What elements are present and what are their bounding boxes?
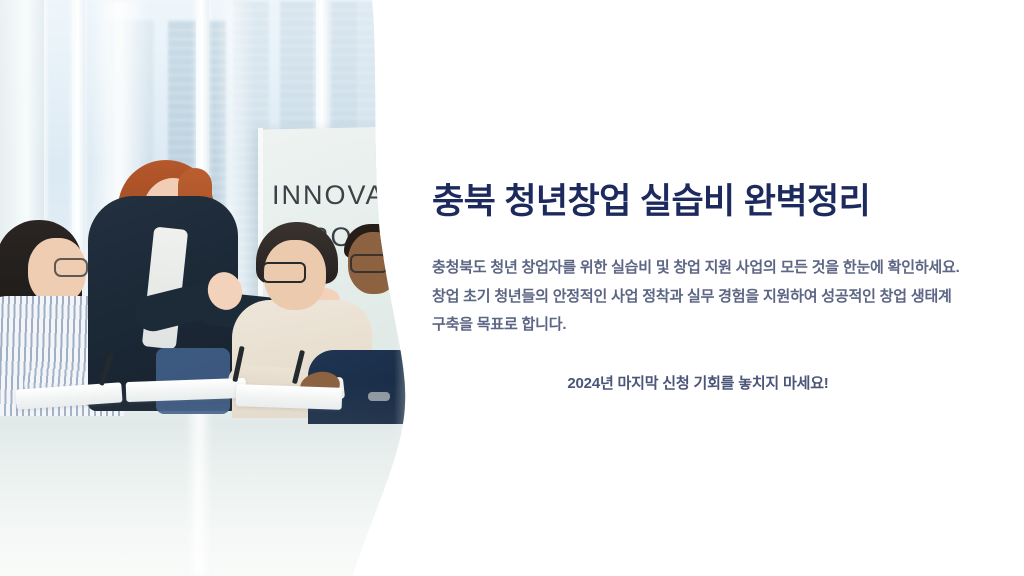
- text-content-column: 충북 청년창업 실습비 완벽정리 충청북도 청년 창업자를 위한 실습비 및 창…: [432, 0, 964, 576]
- office-meeting-photo: INNOVA GRO: [0, 0, 420, 576]
- hero-photo-panel: INNOVA GRO: [0, 0, 420, 576]
- notebook: [236, 384, 343, 410]
- notebook: [126, 378, 247, 402]
- table-light-streak: [186, 392, 212, 576]
- page-title: 충북 청년창업 실습비 완벽정리: [432, 180, 964, 224]
- cta-text: 2024년 마지막 신청 기회를 놓치지 마세요!: [432, 372, 964, 396]
- banner-text-line-1: INNOVA: [272, 180, 386, 211]
- wristwatch: [368, 392, 390, 401]
- eyeglasses: [54, 258, 88, 277]
- eyeglasses: [350, 254, 388, 273]
- lead-paragraph: 충청북도 청년 창업자를 위한 실습비 및 창업 지원 사업의 모든 것을 한눈…: [432, 254, 964, 340]
- photo-edge-fade: [394, 0, 420, 576]
- eyeglasses: [262, 262, 306, 283]
- slide-root: INNOVA GRO: [0, 0, 1024, 576]
